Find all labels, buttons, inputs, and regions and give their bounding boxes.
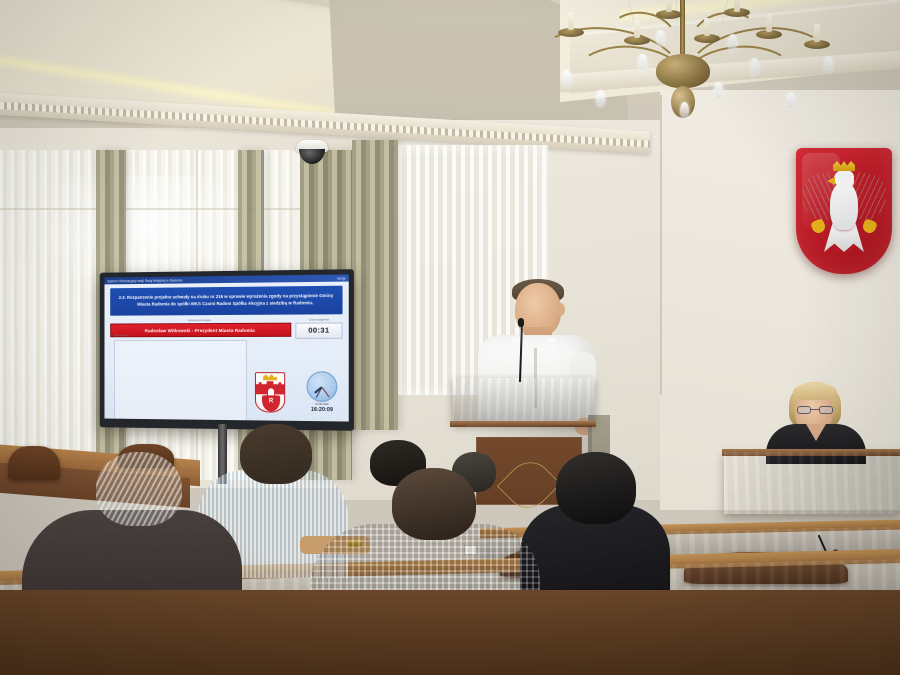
podium-desktop	[453, 378, 595, 424]
podium-microphone-head	[518, 318, 524, 327]
crystal-pendant	[656, 30, 665, 47]
timer-caption: Czas wystąpienia	[295, 318, 342, 321]
audience-head	[96, 452, 182, 526]
agenda-item-panel: 2.3. Rozpatrzenie projektu uchwały na dr…	[110, 286, 342, 316]
screen-system-bar: System Informacyjny sesji Rady Miejskiej…	[104, 274, 348, 284]
speaker-list-panel	[114, 340, 247, 422]
crystal-pendant	[824, 56, 833, 73]
crystal-pendant	[562, 70, 571, 87]
eagle-body-icon	[830, 182, 858, 230]
wall-corner-seam	[660, 95, 662, 395]
screen-surface: System Informacyjny sesji Rady Miejskiej…	[104, 274, 348, 421]
crystal-pendant	[680, 102, 689, 119]
crystal-pendant	[750, 58, 759, 75]
shirt-collar-right	[546, 338, 556, 354]
audience-head	[556, 452, 636, 524]
window-transom	[0, 208, 350, 210]
dome-security-camera	[296, 140, 328, 166]
speaker-timer-row: Aktualnie przemawia Radosław Witkowski -…	[110, 318, 342, 338]
audience-head	[240, 424, 312, 484]
chandelier-candle	[766, 14, 772, 32]
eagle-beak-icon	[827, 177, 835, 185]
current-speaker-banner: Radosław Witkowski - Prezydent Miasta Ra…	[110, 323, 291, 338]
crystal-pendant	[638, 54, 647, 71]
eagle-head-icon	[834, 170, 854, 188]
speaker-ear	[556, 303, 565, 316]
chandelier-candle	[666, 0, 672, 12]
radom-city-crest: R	[255, 372, 285, 413]
brass-crystal-chandelier	[528, 0, 868, 122]
lens-left	[797, 406, 811, 414]
curtain-panel	[352, 140, 398, 430]
floor	[0, 590, 900, 675]
presidium-desk	[724, 452, 900, 514]
glasses-bridge	[811, 409, 819, 410]
camera-dome-icon	[299, 149, 325, 164]
audience-head	[392, 468, 476, 540]
polish-coat-of-arms	[796, 148, 892, 274]
eagle-crown-icon	[833, 161, 855, 171]
eyeglasses-icon	[797, 406, 833, 414]
presidium-woman-neckline	[806, 424, 826, 441]
chandelier-hub	[656, 54, 710, 88]
crystal-pendant	[714, 82, 723, 99]
screen-analog-clock: 25.08.2022 16:20:09	[305, 371, 340, 420]
chandelier-candle	[634, 20, 640, 38]
speaker-block: Aktualnie przemawia Radosław Witkowski -…	[110, 319, 291, 339]
timer-block: Czas wystąpienia 00:31	[295, 318, 342, 338]
system-bar-right: Sesja	[337, 276, 346, 280]
chandelier-stem	[680, 0, 685, 54]
speech-timer: 00:31	[295, 322, 342, 338]
chair-back	[8, 446, 60, 480]
lens-right	[819, 406, 833, 414]
clock-time: 16:20:09	[305, 407, 340, 413]
chandelier-candle	[568, 12, 574, 30]
crystal-pendant	[596, 90, 605, 107]
crest-letter: R	[262, 398, 280, 404]
presentation-screen[interactable]: System Informacyjny sesji Rady Miejskiej…	[100, 269, 354, 431]
presidium-woman-fringe	[793, 383, 837, 400]
chandelier-candle	[734, 0, 740, 12]
crystal-pendant	[728, 34, 737, 51]
agenda-item-text: 2.3. Rozpatrzenie projektu uchwały na dr…	[116, 293, 336, 308]
council-chamber-photo: System Informacyjny sesji Rady Miejskiej…	[0, 0, 900, 675]
system-bar-title: System Informacyjny sesji Rady Miejskiej…	[107, 278, 182, 283]
chandelier-candle	[704, 18, 710, 36]
chandelier-candle	[814, 24, 820, 42]
clock-face	[307, 371, 338, 402]
crystal-pendant	[786, 92, 795, 109]
crest-lower-field: R	[262, 395, 280, 411]
clock-date: 25.08.2022	[305, 403, 340, 406]
speaker-list-caption: Lista mówców	[114, 334, 129, 337]
